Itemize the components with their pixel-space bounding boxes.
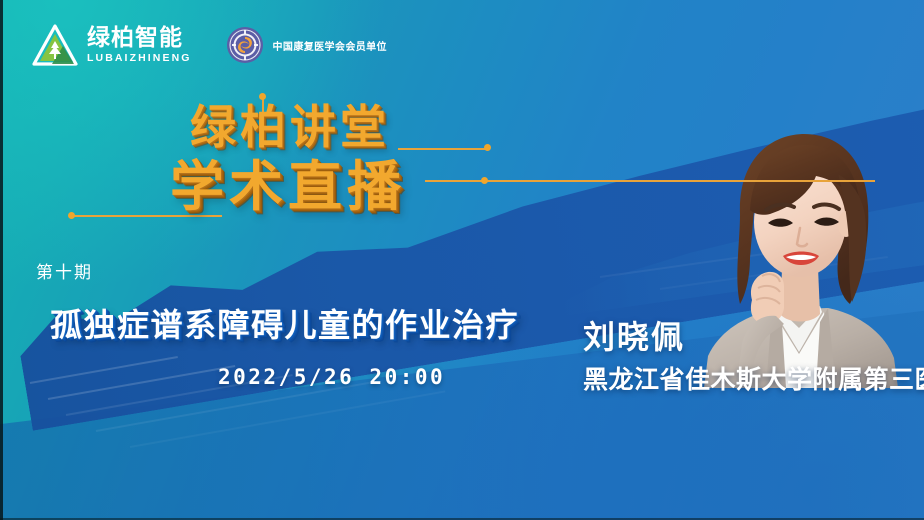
brand-name-cn: 绿柏智能 [87, 27, 192, 50]
poster-left-edge [0, 0, 3, 520]
brand-name-en: LUBAIZHINENG [87, 53, 192, 64]
brand-logo[interactable]: 绿柏智能 LUBAIZHINENG [32, 24, 192, 66]
program-title-line1: 绿柏讲堂 [190, 104, 406, 150]
speaker-organization: 黑龙江省佳木斯大学附属第三医院 [583, 360, 924, 396]
triangle-pine-logo-icon [32, 24, 78, 66]
webinar-poster: 绿柏智能 LUBAIZHINENG 中国康复医学会会 [0, 0, 924, 520]
session-subject: 孤独症谱系障碍儿童的作业治疗 [50, 300, 519, 346]
session-datetime: 2022/5/26 20:00 [218, 365, 445, 389]
affiliation-label: 中国康复医学会会员单位 [273, 38, 387, 53]
program-title: 绿柏讲堂 学术直播 [190, 104, 406, 214]
speaker-portrait-photo [690, 118, 908, 388]
brand-logo-text: 绿柏智能 LUBAIZHINENG [87, 27, 192, 64]
association-seal-icon [226, 26, 264, 64]
affiliation-badge[interactable]: 中国康复医学会会员单位 [226, 26, 387, 64]
speaker-name: 刘晓佩 [583, 312, 685, 358]
header-logos: 绿柏智能 LUBAIZHINENG 中国康复医学会会 [32, 24, 387, 66]
program-title-line2: 学术直播 [170, 160, 406, 214]
episode-label: 第十期 [36, 258, 93, 283]
